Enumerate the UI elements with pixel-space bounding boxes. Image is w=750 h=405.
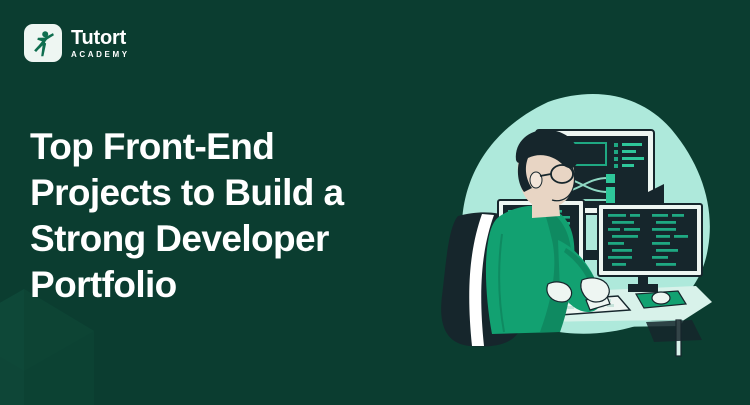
illustration-canvas — [440, 88, 740, 358]
logo-wordmark: Tutort ACADEMY — [71, 28, 130, 59]
headline-line-1: Top Front-End — [30, 126, 274, 167]
desk-shadow — [646, 320, 702, 342]
page-title: Top Front-End Projects to Build a Strong… — [30, 124, 450, 308]
headline-line-4: Portfolio — [30, 264, 177, 305]
tutort-figure-icon — [24, 24, 62, 62]
developer-ear — [530, 172, 542, 188]
blog-banner: Tutort ACADEMY Top Front-End Projects to… — [0, 0, 750, 405]
brand-logo[interactable]: Tutort ACADEMY — [24, 24, 130, 62]
developer-at-triple-monitor-workstation-illustration — [440, 88, 740, 358]
right-monitor-code-screen — [603, 209, 697, 271]
logo-name: Tutort — [71, 28, 130, 48]
logo-subtitle: ACADEMY — [71, 51, 130, 59]
headline-line-3: Strong Developer — [30, 218, 329, 259]
headline-line-2: Projects to Build a — [30, 172, 343, 213]
mouse — [652, 292, 670, 304]
